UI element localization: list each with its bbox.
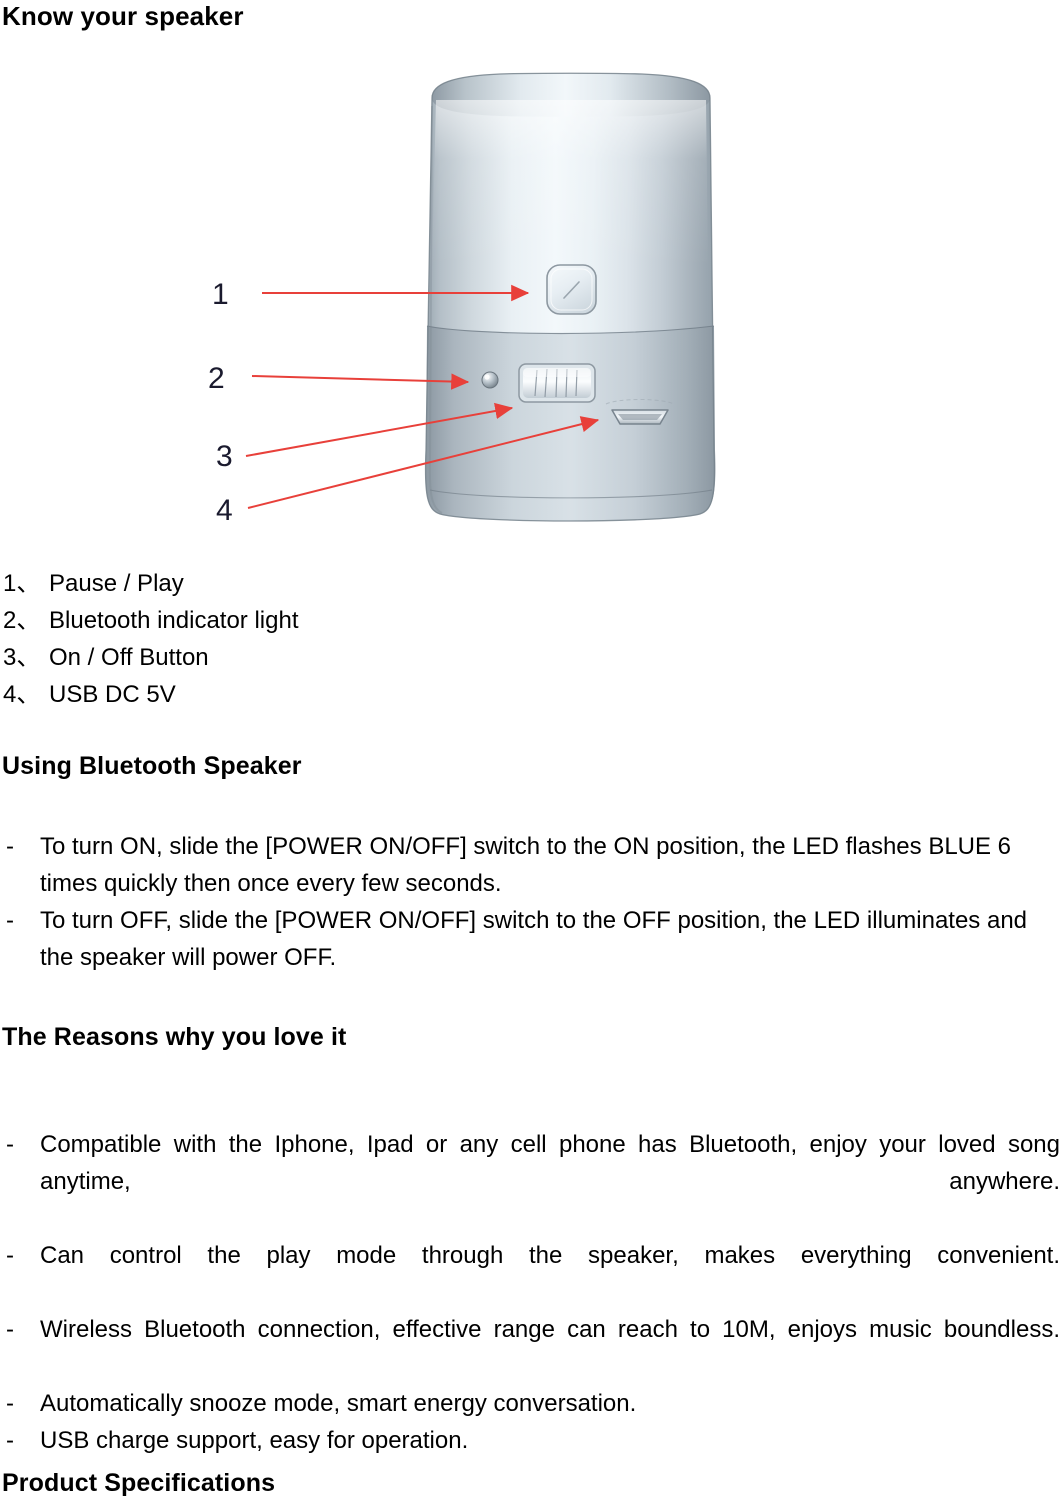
parts-item-marker: 4、	[3, 676, 49, 713]
specs-section-heading: Product Specifications	[2, 1468, 275, 1498]
list-item: - USB charge support, easy for operation…	[2, 1422, 1060, 1459]
parts-item-marker: 2、	[3, 602, 49, 639]
bluetooth-indicator-led	[482, 372, 498, 388]
list-item: 4、 USB DC 5V	[3, 676, 703, 713]
bullet-text: Compatible with the Iphone, Ipad or any …	[40, 1126, 1060, 1237]
list-item: - Wireless Bluetooth connection, effecti…	[2, 1311, 1060, 1385]
using-section-list-block: - To turn ON, slide the [POWER ON/OFF] s…	[2, 828, 1060, 976]
parts-item-label: On / Off Button	[49, 639, 209, 676]
list-item: 1、 Pause / Play	[3, 565, 703, 602]
list-item: 3、 On / Off Button	[3, 639, 703, 676]
page-title: Know your speaker	[2, 1, 244, 31]
bullet-text: USB charge support, easy for operation.	[40, 1422, 1060, 1459]
specs-section-heading-block: Product Specifications	[2, 1468, 275, 1498]
bullet-text: To turn OFF, slide the [POWER ON/OFF] sw…	[40, 902, 1060, 976]
bullet-text: Can control the play mode through the sp…	[40, 1237, 1060, 1311]
callout-number-4: 4	[216, 494, 233, 527]
reasons-section-heading-block: The Reasons why you love it	[2, 1022, 346, 1052]
speaker-diagram: 1 2 3 4	[0, 58, 1062, 536]
bullet-dash: -	[6, 1311, 14, 1348]
parts-item-marker: 3、	[3, 639, 49, 676]
using-section-heading-block: Using Bluetooth Speaker	[2, 751, 302, 781]
list-item: - To turn ON, slide the [POWER ON/OFF] s…	[2, 828, 1060, 902]
parts-item-label: Bluetooth indicator light	[49, 602, 299, 639]
using-bullet-list: - To turn ON, slide the [POWER ON/OFF] s…	[2, 828, 1060, 976]
callout-number-3: 3	[216, 440, 233, 473]
bullet-text: To turn ON, slide the [POWER ON/OFF] swi…	[40, 828, 1060, 902]
callout-number-2: 2	[208, 362, 225, 395]
using-section-heading: Using Bluetooth Speaker	[2, 751, 302, 781]
list-item: - Can control the play mode through the …	[2, 1237, 1060, 1311]
bullet-dash: -	[6, 1237, 14, 1274]
reasons-section-heading: The Reasons why you love it	[2, 1022, 346, 1052]
list-item: - Automatically snooze mode, smart energ…	[2, 1385, 1060, 1422]
bullet-text: Automatically snooze mode, smart energy …	[40, 1385, 1060, 1422]
list-item: - Compatible with the Iphone, Ipad or an…	[2, 1126, 1060, 1237]
parts-list-block: 1、 Pause / Play 2、 Bluetooth indicator l…	[3, 565, 703, 713]
callout-numbers: 1 2 3 4	[208, 278, 233, 527]
parts-item-label: USB DC 5V	[49, 676, 176, 713]
bullet-dash: -	[6, 1385, 14, 1422]
parts-item-marker: 1、	[3, 565, 49, 602]
play-pause-button	[547, 265, 596, 314]
reasons-section-list-block: - Compatible with the Iphone, Ipad or an…	[2, 1126, 1060, 1459]
reasons-bullet-list: - Compatible with the Iphone, Ipad or an…	[2, 1126, 1060, 1459]
bullet-dash: -	[6, 902, 14, 939]
parts-list: 1、 Pause / Play 2、 Bluetooth indicator l…	[3, 565, 703, 713]
bullet-dash: -	[6, 828, 14, 865]
list-item: - To turn OFF, slide the [POWER ON/OFF] …	[2, 902, 1060, 976]
document-page: Know your speaker	[0, 0, 1062, 1504]
parts-item-label: Pause / Play	[49, 565, 184, 602]
callout-number-1: 1	[212, 278, 229, 311]
bullet-dash: -	[6, 1422, 14, 1459]
list-item: 2、 Bluetooth indicator light	[3, 602, 703, 639]
power-slide-switch	[519, 364, 595, 402]
bullet-text: Wireless Bluetooth connection, effective…	[40, 1311, 1060, 1385]
speaker-illustration: 1 2 3 4	[0, 58, 1062, 536]
bullet-dash: -	[6, 1126, 14, 1163]
page-title-block: Know your speaker	[2, 1, 244, 31]
